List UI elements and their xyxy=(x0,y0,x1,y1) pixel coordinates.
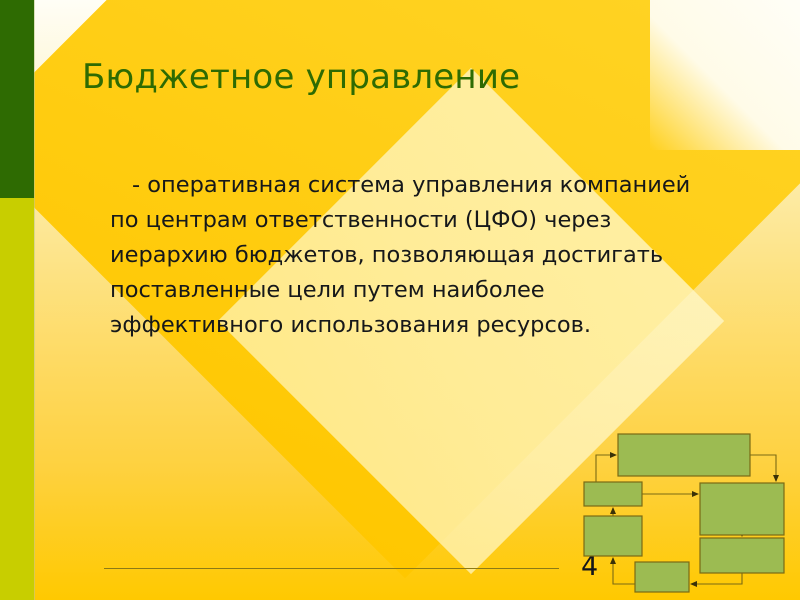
slide-canvas: Бюджетное управление - оперативная систе… xyxy=(0,0,800,600)
flowchart-box-top-wide xyxy=(618,434,750,476)
page-title: Бюджетное управление xyxy=(82,58,742,97)
slide-body: - оперативная система управления компани… xyxy=(110,168,710,343)
body-paragraph: - оперативная система управления компани… xyxy=(110,168,710,343)
sidebar-accent-lime xyxy=(0,198,34,600)
footer-divider xyxy=(104,568,559,569)
flowchart-box-right-tall xyxy=(700,483,784,535)
flowchart-boxes xyxy=(584,434,784,592)
flowchart-svg xyxy=(578,428,800,600)
sidebar-accent-dark-green xyxy=(0,0,34,198)
flowchart-diagram xyxy=(578,428,800,600)
flowchart-box-left-mid xyxy=(584,516,642,556)
flowchart-box-left-small xyxy=(584,482,642,506)
flowchart-box-right-lower xyxy=(700,538,784,573)
flowchart-box-bottom-center xyxy=(635,562,689,592)
sidebar-divider xyxy=(34,0,35,600)
